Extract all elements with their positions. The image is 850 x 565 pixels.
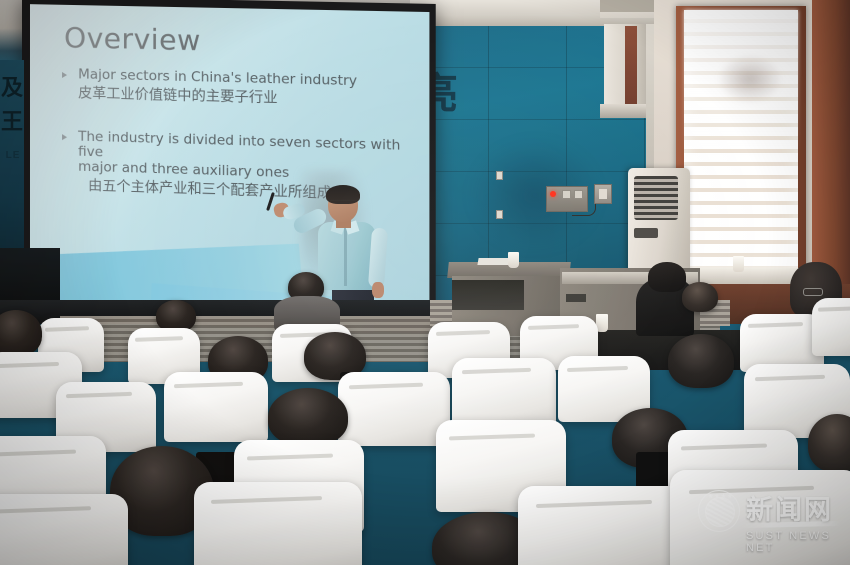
audience-chair xyxy=(338,372,450,446)
audience-chair xyxy=(164,372,268,442)
audience-area xyxy=(0,0,850,565)
audience-chair xyxy=(670,470,850,565)
audience-chair xyxy=(812,298,850,356)
audience-chair xyxy=(452,358,556,428)
audience-head xyxy=(0,310,42,356)
audience-chair xyxy=(194,482,362,565)
photograph-scene: 亮 ING Overview Major sectors in xyxy=(0,0,850,565)
audience-head xyxy=(668,334,734,388)
audience-head xyxy=(682,282,718,312)
audience-chair xyxy=(518,486,694,565)
audience-chair xyxy=(0,494,128,565)
audience-head xyxy=(268,388,348,446)
